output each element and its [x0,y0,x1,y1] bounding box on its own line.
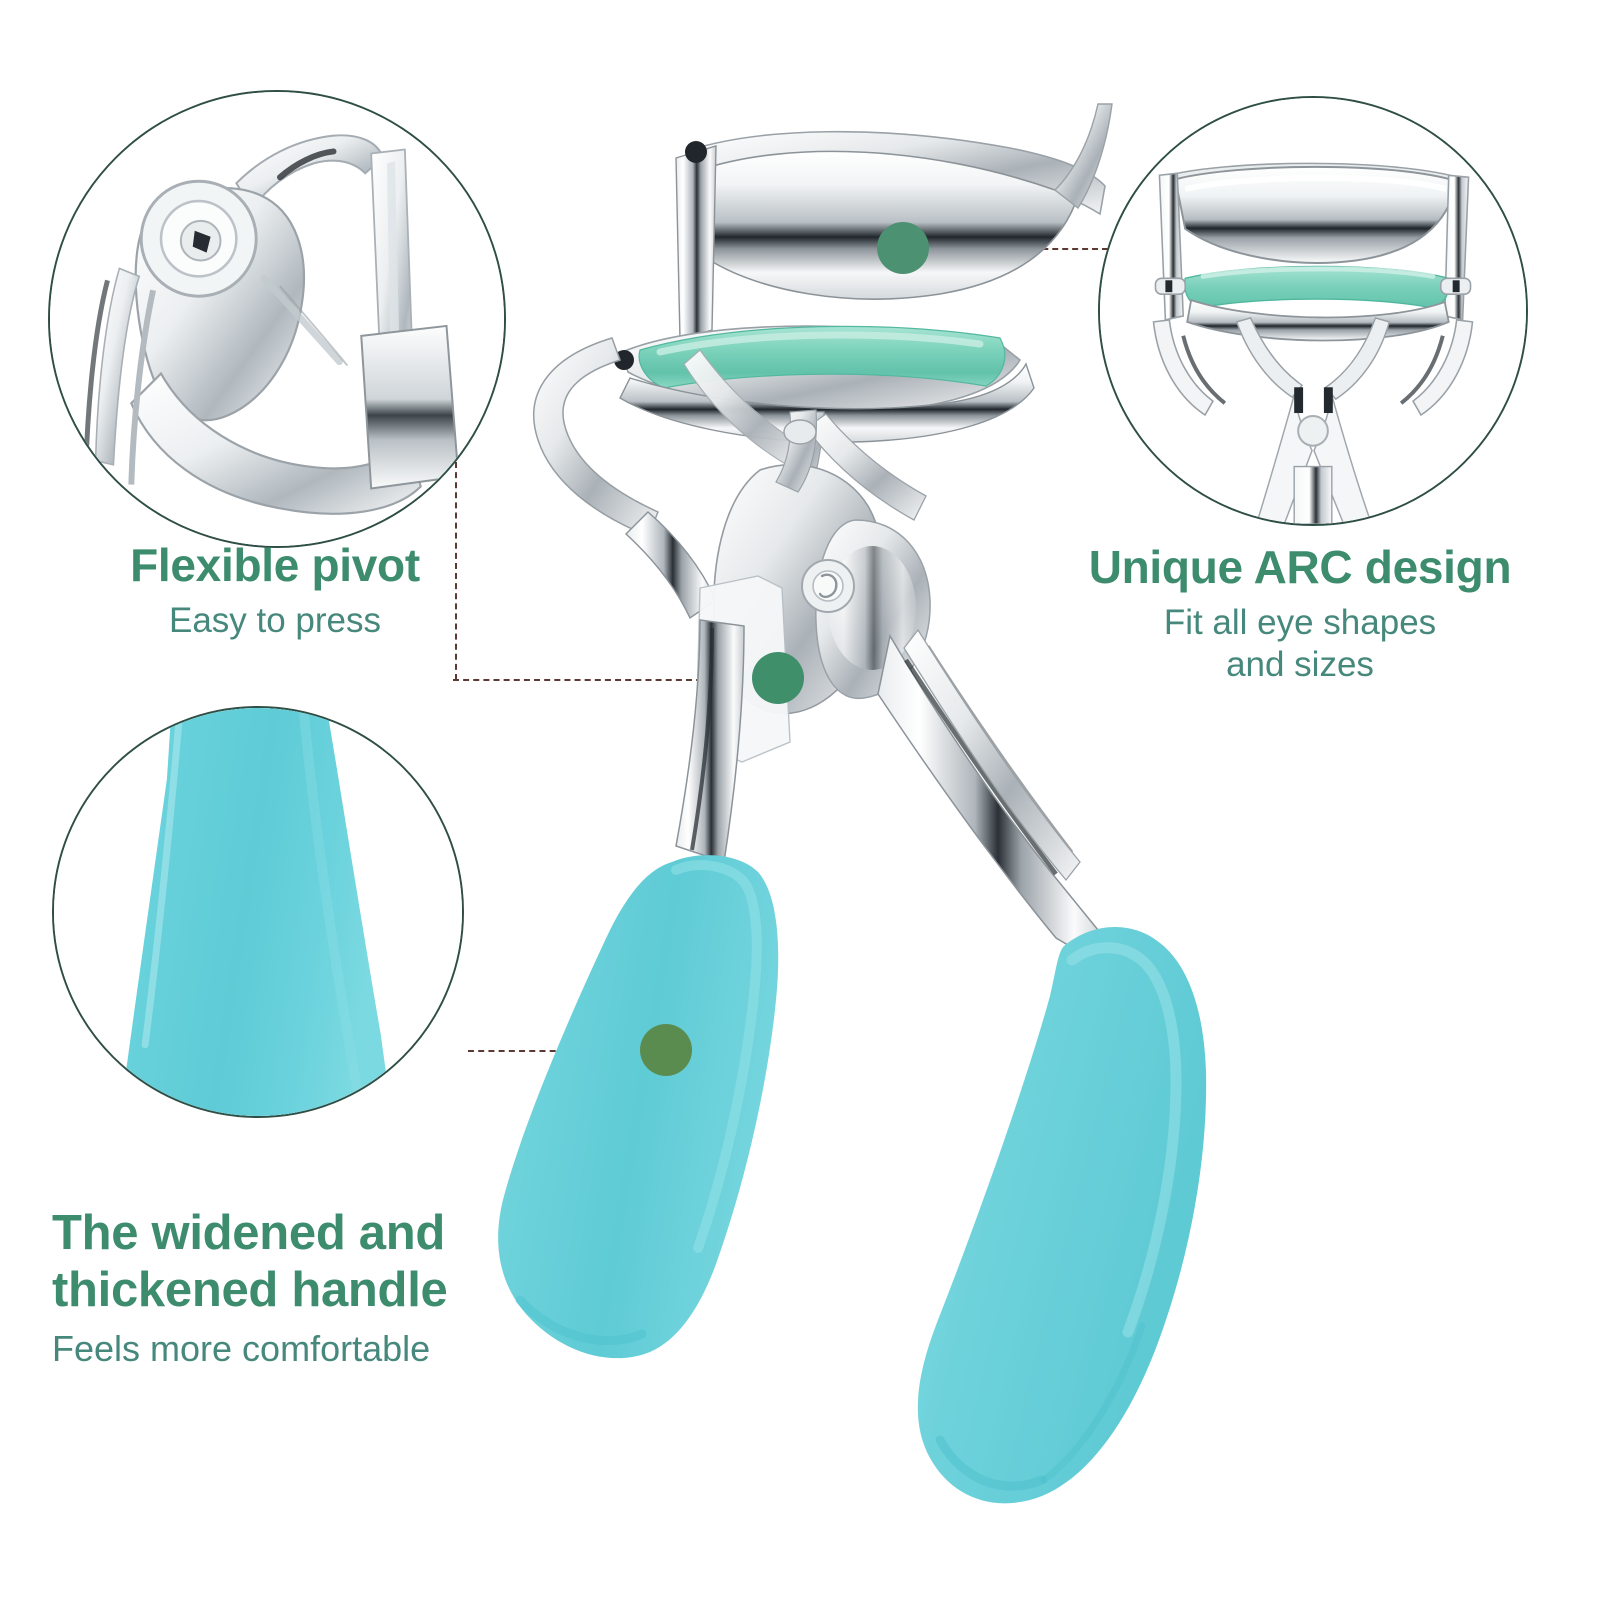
infographic-canvas: Flexible pivot Easy to press Unique ARC … [0,0,1600,1600]
leader-line-handle [468,1050,668,1052]
callout-dot-arc-design[interactable] [877,222,929,274]
callout-heading-widened-handle: The widened and thickened handle [52,1205,572,1319]
callout-heading-flexible-pivot: Flexible pivot [60,540,490,592]
callout-dot-flexible-pivot[interactable] [752,652,804,704]
callout-dot-handle[interactable] [640,1024,692,1076]
handle-detail-inset [52,706,464,1118]
callout-heading-unique-arc-design: Unique ARC design [1035,542,1565,594]
callout-widened-handle: The widened and thickened handle Feels m… [52,1205,572,1370]
callout-flexible-pivot: Flexible pivot Easy to press [60,540,490,642]
leader-line-pivot-horizontal [453,679,773,681]
callout-subtitle-widened-handle: Feels more comfortable [52,1327,572,1370]
pivot-detail-inset [48,90,506,548]
callout-subtitle-unique-arc-design: Fit all eye shapes and sizes [1035,602,1565,686]
arc-head-inset [1098,96,1528,526]
callout-unique-arc-design: Unique ARC design Fit all eye shapes and… [1035,542,1565,686]
callout-subtitle-flexible-pivot: Easy to press [60,600,490,642]
leader-line-arc-design [903,248,1108,250]
